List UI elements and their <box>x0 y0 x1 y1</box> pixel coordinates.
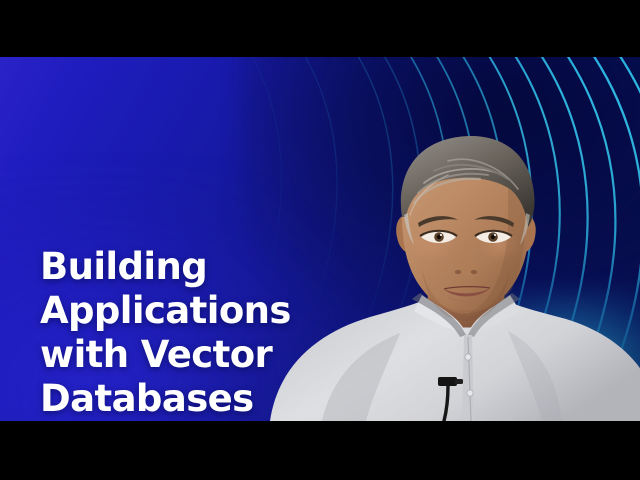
video-content-area: Building Applications with Vector Databa… <box>0 57 640 421</box>
title-line-2: Applications <box>40 289 340 333</box>
video-title: Building Applications with Vector Databa… <box>40 245 340 421</box>
title-line-4: Databases <box>40 377 340 421</box>
top-letterbox-bar <box>0 0 640 57</box>
bottom-letterbox-bar <box>0 421 640 480</box>
video-frame: Building Applications with Vector Databa… <box>0 0 640 480</box>
title-line-3: with Vector <box>40 333 340 377</box>
title-line-1: Building <box>40 245 340 289</box>
